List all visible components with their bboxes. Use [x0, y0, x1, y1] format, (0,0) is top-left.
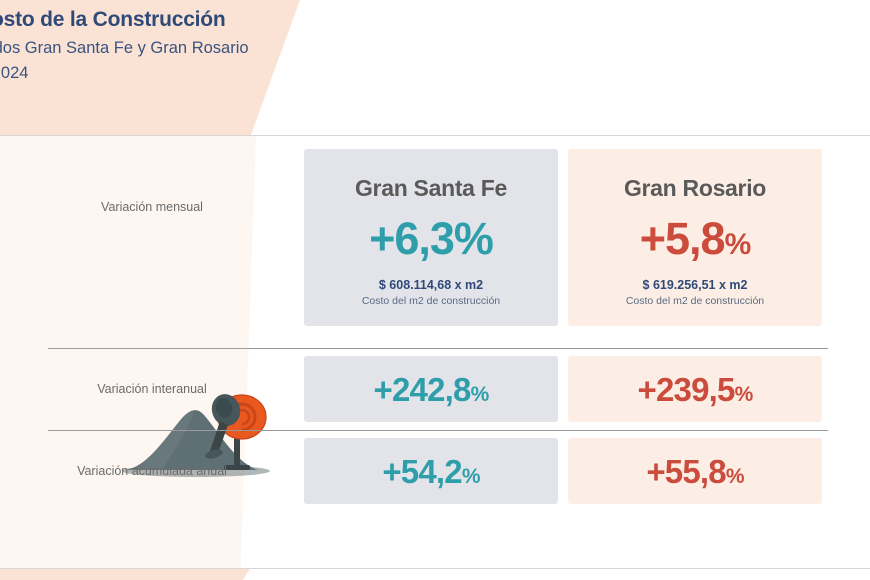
- metric-value-rosario-interanual: +239,5%: [638, 373, 753, 406]
- column-header-gran-rosario: Gran Rosario: [624, 175, 766, 202]
- table-row: Variación mensual Gran Santa Fe +6,3% $ …: [0, 136, 870, 348]
- metric-value-santa-fe-acumulada: +54,2%: [382, 455, 479, 488]
- price-caption-rosario: Costo del m2 de construcción: [626, 295, 764, 307]
- metric-number: +242,8: [374, 371, 471, 408]
- metric-number: +55,8: [646, 453, 726, 490]
- price-santa-fe: $ 608.114,68 x m2: [379, 278, 483, 292]
- card-gran-rosario-acumulada[interactable]: +55,8%: [568, 438, 822, 504]
- percent-sign: %: [462, 465, 480, 488]
- price-rosario: $ 619.256,51 x m2: [643, 278, 748, 292]
- metric-value-rosario-mensual: +5,8%: [640, 216, 751, 261]
- row-cards: +242,8% +239,5%: [304, 356, 822, 422]
- header-text-block: Costo de la Construcción merados Gran Sa…: [0, 0, 249, 83]
- row-label-variacion-interanual: Variación interanual: [0, 348, 304, 430]
- page-date: o 2024: [0, 64, 249, 83]
- row-label-text: Variación acumulada anual: [77, 464, 227, 478]
- footer-divider: [0, 568, 870, 569]
- table-row: Variación interanual +242,8% +239,5%: [0, 348, 870, 430]
- percent-sign: %: [726, 465, 744, 488]
- metric-number: +54,2: [382, 453, 462, 490]
- card-gran-santa-fe-acumulada[interactable]: +54,2%: [304, 438, 558, 504]
- header-banner: Costo de la Construcción merados Gran Sa…: [0, 0, 870, 136]
- metric-number: +5,8: [640, 213, 725, 264]
- row-label-variacion-mensual: Variación mensual: [0, 136, 304, 348]
- metrics-table: Variación mensual Gran Santa Fe +6,3% $ …: [0, 136, 870, 512]
- column-header-gran-santa-fe: Gran Santa Fe: [355, 175, 507, 202]
- percent-sign: %: [454, 213, 493, 264]
- percent-sign: %: [471, 383, 489, 406]
- metric-value-santa-fe-mensual: +6,3%: [369, 216, 493, 261]
- metric-number: +6,3: [369, 213, 454, 264]
- metric-number: +239,5: [638, 371, 735, 408]
- row-cards: +54,2% +55,8%: [304, 438, 822, 504]
- table-row: Variación acumulada anual +54,2% +55,8%: [0, 430, 870, 512]
- page-subtitle: merados Gran Santa Fe y Gran Rosario: [0, 39, 249, 58]
- metric-value-santa-fe-interanual: +242,8%: [374, 373, 489, 406]
- card-gran-rosario-interanual[interactable]: +239,5%: [568, 356, 822, 422]
- row-cards: Gran Santa Fe +6,3% $ 608.114,68 x m2 Co…: [304, 149, 822, 326]
- row-label-text: Variación mensual: [101, 200, 203, 214]
- price-caption-santa-fe: Costo del m2 de construcción: [362, 295, 500, 307]
- percent-sign: %: [735, 383, 753, 406]
- metric-value-rosario-acumulada: +55,8%: [646, 455, 743, 488]
- card-gran-santa-fe-interanual[interactable]: +242,8%: [304, 356, 558, 422]
- row-label-variacion-acumulada-anual: Variación acumulada anual: [0, 430, 304, 512]
- page-title: Costo de la Construcción: [0, 8, 249, 32]
- card-gran-santa-fe-mensual[interactable]: Gran Santa Fe +6,3% $ 608.114,68 x m2 Co…: [304, 149, 558, 326]
- footer-accent-wedge: [0, 569, 250, 580]
- row-label-text: Variación interanual: [97, 382, 207, 396]
- content-area: Variación mensual Gran Santa Fe +6,3% $ …: [0, 136, 870, 580]
- percent-sign: %: [725, 228, 751, 261]
- card-gran-rosario-mensual[interactable]: Gran Rosario +5,8% $ 619.256,51 x m2 Cos…: [568, 149, 822, 326]
